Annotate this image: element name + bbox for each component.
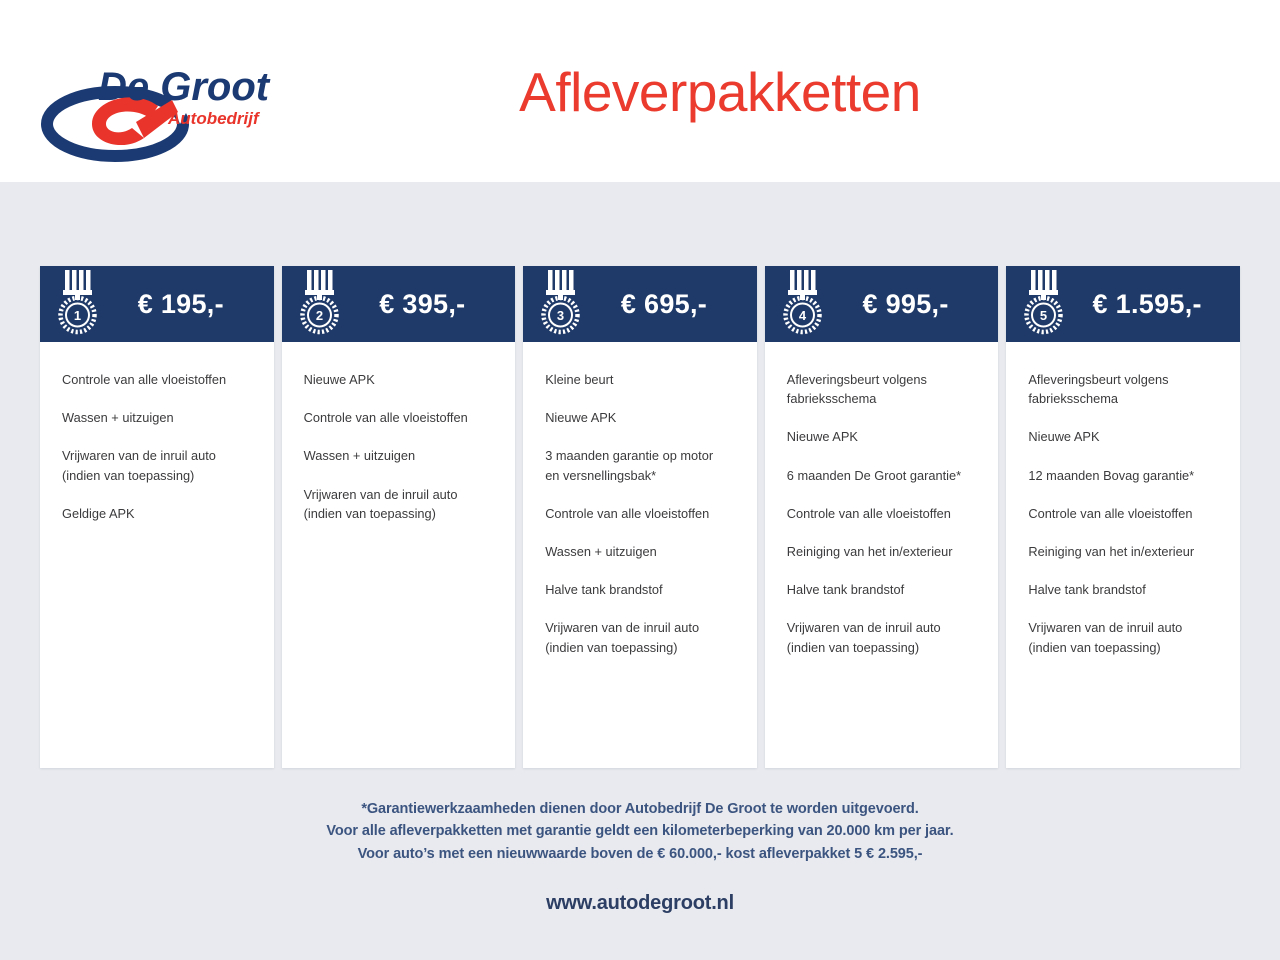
medal-number: 3 — [557, 308, 564, 323]
feature-item: Halve tank brandstof — [1028, 580, 1218, 599]
feature-item: Geldige APK — [62, 504, 252, 523]
package-card-header: 4 € 995,- — [765, 266, 999, 342]
footnote-line: *Garantiewerkzaamheden dienen door Autob… — [0, 798, 1280, 820]
medal-number: 2 — [315, 308, 322, 323]
medal-icon: 5 — [1020, 270, 1066, 336]
footnote-line: Voor auto’s met een nieuwwaarde boven de… — [0, 843, 1280, 865]
package-card-header: 1 € 195,- — [40, 266, 274, 342]
feature-item: Wassen + uitzuigen — [304, 446, 494, 465]
package-price: € 1.595,- — [1066, 289, 1224, 320]
feature-item: Controle van alle vloeistoffen — [62, 370, 252, 389]
feature-item: Afleveringsbeurt volgens fabrieksschema — [787, 370, 977, 408]
feature-item: Reiniging van het in/exterieur — [1028, 542, 1218, 561]
website-url[interactable]: www.autodegroot.nl — [0, 892, 1280, 915]
package-card-header: 3 € 695,- — [523, 266, 757, 342]
package-card[interactable]: 2 € 395,- Nieuwe APK Controle van alle v… — [282, 266, 516, 768]
page-title: Afleverpakketten — [0, 62, 1280, 123]
package-card[interactable]: 3 € 695,- Kleine beurt Nieuwe APK 3 maan… — [523, 266, 757, 768]
feature-item: Nieuwe APK — [787, 427, 977, 446]
medal-number: 5 — [1040, 308, 1047, 323]
medal-icon: 4 — [779, 270, 825, 336]
top-header-band: De Groot Autobedrijf Afleverpakketten — [0, 0, 1280, 182]
footer: *Garantiewerkzaamheden dienen door Autob… — [0, 798, 1280, 915]
feature-item: Halve tank brandstof — [787, 580, 977, 599]
feature-item: 6 maanden De Groot garantie* — [787, 466, 977, 485]
medal-icon: 1 — [54, 270, 100, 336]
package-feature-list: Afleveringsbeurt volgens fabrieksschema … — [1006, 342, 1240, 768]
feature-item: Vrijwaren van de inruil auto (indien van… — [545, 618, 735, 656]
feature-item: Controle van alle vloeistoffen — [545, 504, 735, 523]
feature-item: Wassen + uitzuigen — [62, 408, 252, 427]
feature-item: Afleveringsbeurt volgens fabrieksschema — [1028, 370, 1218, 408]
package-feature-list: Afleveringsbeurt volgens fabrieksschema … — [765, 342, 999, 768]
feature-item: Vrijwaren van de inruil auto (indien van… — [304, 485, 494, 523]
package-card-list: 1 € 195,- Controle van alle vloeistoffen… — [40, 266, 1240, 768]
feature-item: Vrijwaren van de inruil auto (indien van… — [62, 446, 252, 484]
feature-item: 3 maanden garantie op motor en versnelli… — [545, 446, 735, 484]
feature-item: Controle van alle vloeistoffen — [787, 504, 977, 523]
medal-icon: 2 — [296, 270, 342, 336]
package-feature-list: Nieuwe APK Controle van alle vloeistoffe… — [282, 342, 516, 768]
package-card[interactable]: 1 € 195,- Controle van alle vloeistoffen… — [40, 266, 274, 768]
feature-item: Reiniging van het in/exterieur — [787, 542, 977, 561]
feature-item: Nieuwe APK — [1028, 427, 1218, 446]
package-feature-list: Controle van alle vloeistoffen Wassen + … — [40, 342, 274, 768]
package-card[interactable]: 4 € 995,- Afleveringsbeurt volgens fabri… — [765, 266, 999, 768]
package-card-header: 2 € 395,- — [282, 266, 516, 342]
medal-number: 4 — [799, 308, 807, 323]
package-feature-list: Kleine beurt Nieuwe APK 3 maanden garant… — [523, 342, 757, 768]
feature-item: 12 maanden Bovag garantie* — [1028, 466, 1218, 485]
feature-item: Vrijwaren van de inruil auto (indien van… — [787, 618, 977, 656]
poster-page: De Groot Autobedrijf Afleverpakketten — [0, 0, 1280, 960]
package-card-header: 5 € 1.595,- — [1006, 266, 1240, 342]
package-price: € 995,- — [825, 289, 983, 320]
feature-item: Halve tank brandstof — [545, 580, 735, 599]
feature-item: Vrijwaren van de inruil auto (indien van… — [1028, 618, 1218, 656]
package-price: € 395,- — [342, 289, 500, 320]
medal-number: 1 — [74, 308, 81, 323]
feature-item: Kleine beurt — [545, 370, 735, 389]
feature-item: Nieuwe APK — [304, 370, 494, 389]
medal-icon: 3 — [537, 270, 583, 336]
feature-item: Wassen + uitzuigen — [545, 542, 735, 561]
package-card[interactable]: 5 € 1.595,- Afleveringsbeurt volgens fab… — [1006, 266, 1240, 768]
feature-item: Nieuwe APK — [545, 408, 735, 427]
feature-item: Controle van alle vloeistoffen — [304, 408, 494, 427]
package-price: € 695,- — [583, 289, 741, 320]
feature-item: Controle van alle vloeistoffen — [1028, 504, 1218, 523]
package-price: € 195,- — [100, 289, 258, 320]
footnote-line: Voor alle afleverpakketten met garantie … — [0, 820, 1280, 842]
